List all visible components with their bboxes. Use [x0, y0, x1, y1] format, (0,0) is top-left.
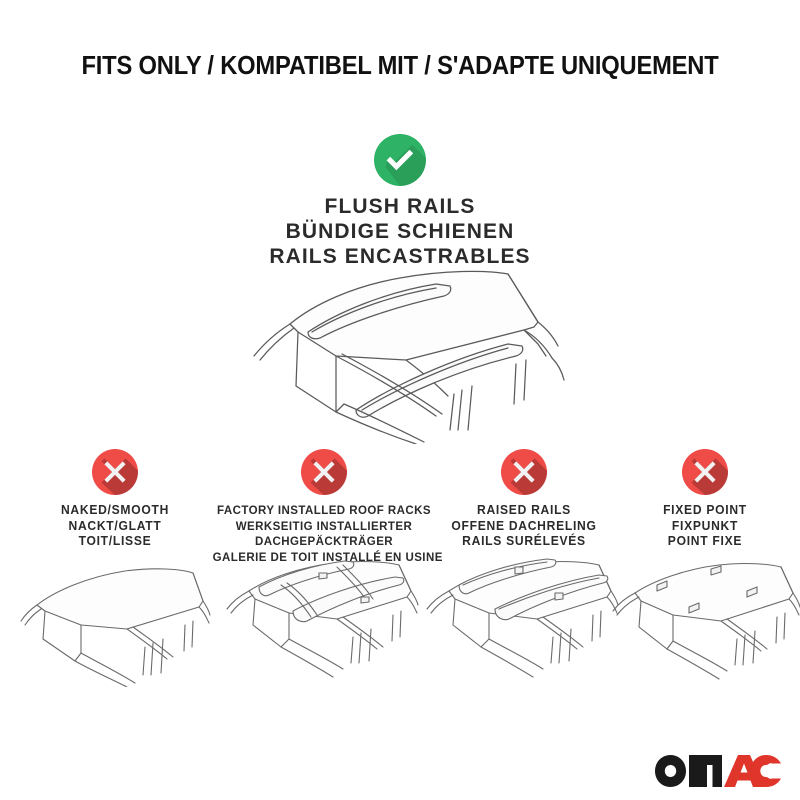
red-x-icon — [301, 449, 347, 495]
car-roof-raised-rails-illustration — [419, 551, 629, 686]
incompatible-label-naked-smooth: NAKED/SMOOTH NACKT/GLATT TOIT/LISSE — [14, 503, 216, 550]
green-check-icon — [374, 134, 426, 186]
incompatible-item-fixed-point: FIXED POINT FIXPUNKT POINT FIXE — [612, 449, 798, 550]
label-line-de: OFFENE DACHRELING — [428, 519, 620, 535]
label-line-en: FACTORY INSTALLED ROOF RACKS — [213, 503, 436, 519]
car-roof-factory-rack-illustration — [219, 551, 429, 686]
label-line-de-2: DACHGEPÄCKTRÄGER — [213, 534, 436, 550]
omac-logo-letter-o — [655, 755, 686, 787]
red-x-icon — [682, 449, 728, 495]
incompatible-label-fixed-point: FIXED POINT FIXPUNKT POINT FIXE — [616, 503, 795, 550]
compatible-label-en: FLUSH RAILS — [0, 194, 800, 219]
red-x-icon — [92, 449, 138, 495]
red-x-icon — [501, 449, 547, 495]
incompatible-item-naked-smooth: NAKED/SMOOTH NACKT/GLATT TOIT/LISSE — [10, 449, 220, 550]
label-line-en: RAISED RAILS — [428, 503, 620, 519]
incompatible-section: NAKED/SMOOTH NACKT/GLATT TOIT/LISSE — [0, 449, 800, 749]
label-line-fr: TOIT/LISSE — [14, 534, 216, 550]
incompatible-label-raised-rails: RAISED RAILS OFFENE DACHRELING RAILS SUR… — [428, 503, 620, 550]
label-line-fr: RAILS SURÉLEVÉS — [428, 534, 620, 550]
omac-logo — [654, 754, 782, 788]
incompatible-item-raised-rails: RAISED RAILS OFFENE DACHRELING RAILS SUR… — [424, 449, 624, 550]
label-line-fr: POINT FIXE — [616, 534, 795, 550]
page-title: FITS ONLY / KOMPATIBEL MIT / S'ADAPTE UN… — [28, 52, 772, 80]
label-line-de-1: WERKSEITIG INSTALLIERTER — [213, 519, 436, 535]
header: FITS ONLY / KOMPATIBEL MIT / S'ADAPTE UN… — [0, 52, 800, 80]
label-line-de: FIXPUNKT — [616, 519, 795, 535]
compatible-label-de: BÜNDIGE SCHIENEN — [0, 219, 800, 244]
label-line-en: NAKED/SMOOTH — [14, 503, 216, 519]
label-line-en: FIXED POINT — [616, 503, 795, 519]
car-roof-naked-smooth-illustration — [15, 557, 215, 687]
omac-logo-letter-c — [751, 755, 782, 787]
compatible-label: FLUSH RAILS BÜNDIGE SCHIENEN RAILS ENCAS… — [0, 194, 800, 269]
incompatible-item-factory-rack: FACTORY INSTALLED ROOF RACKS WERKSEITIG … — [208, 449, 440, 565]
car-roof-fixed-point-illustration — [607, 551, 800, 686]
compatible-section: FLUSH RAILS BÜNDIGE SCHIENEN RAILS ENCAS… — [0, 134, 800, 269]
car-roof-flush-rails-illustration — [186, 264, 626, 444]
label-line-de: NACKT/GLATT — [14, 519, 216, 535]
